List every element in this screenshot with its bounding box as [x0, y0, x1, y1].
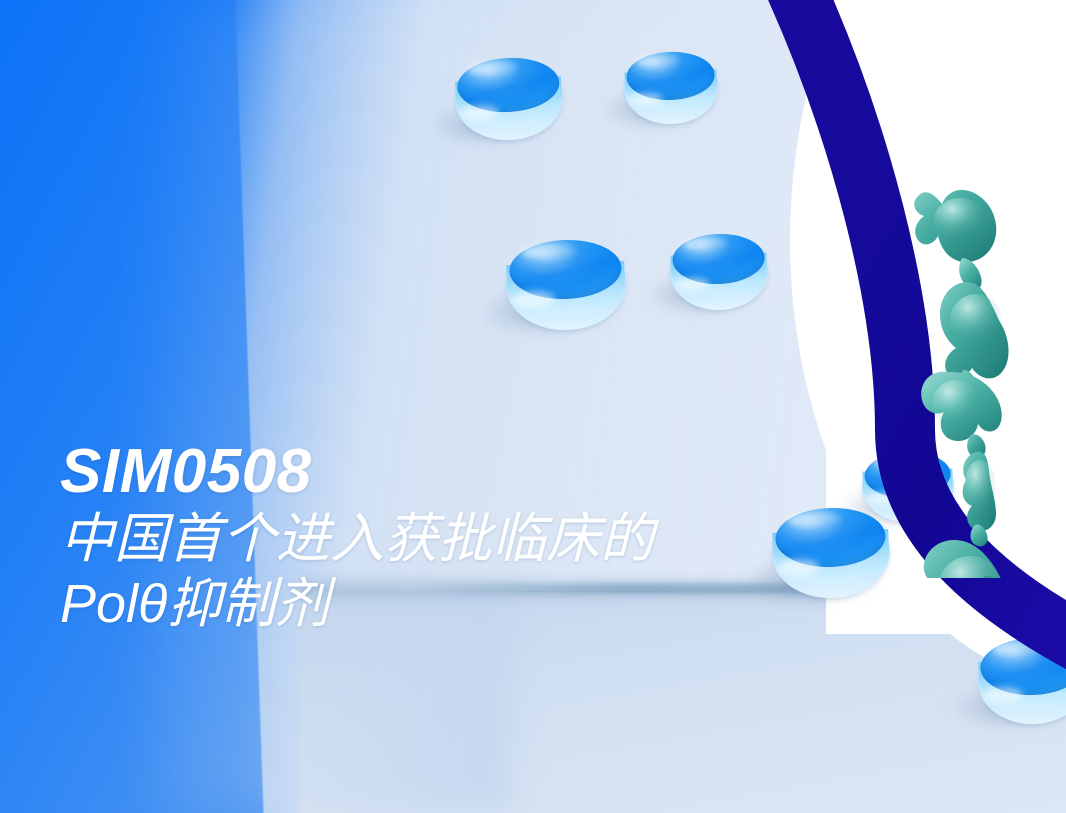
pill-6	[770, 506, 891, 600]
pill-gloss	[468, 61, 517, 78]
pill-4	[669, 232, 770, 311]
subtitle-line-2: Polθ抑制剂	[60, 572, 654, 637]
pill-3	[504, 238, 627, 332]
pill-gloss	[683, 237, 728, 252]
page-title: SIM0508	[60, 440, 654, 503]
subtitle: 中国首个进入获批临床的 Polθ抑制剂	[60, 507, 654, 637]
pill-1	[453, 55, 565, 143]
pill-7	[977, 636, 1066, 726]
poster-canvas: SIM0508 中国首个进入获批临床的 Polθ抑制剂	[0, 0, 1066, 813]
pill-2	[623, 50, 719, 125]
pill-gloss	[636, 55, 679, 69]
pill-gloss	[992, 641, 1042, 657]
headline-block: SIM0508 中国首个进入获批临床的 Polθ抑制剂	[60, 440, 654, 637]
pill-gloss	[874, 454, 916, 467]
subtitle-line-1: 中国首个进入获批临床的	[60, 507, 654, 572]
pill-gloss	[522, 243, 577, 260]
pill-gloss	[787, 511, 841, 528]
